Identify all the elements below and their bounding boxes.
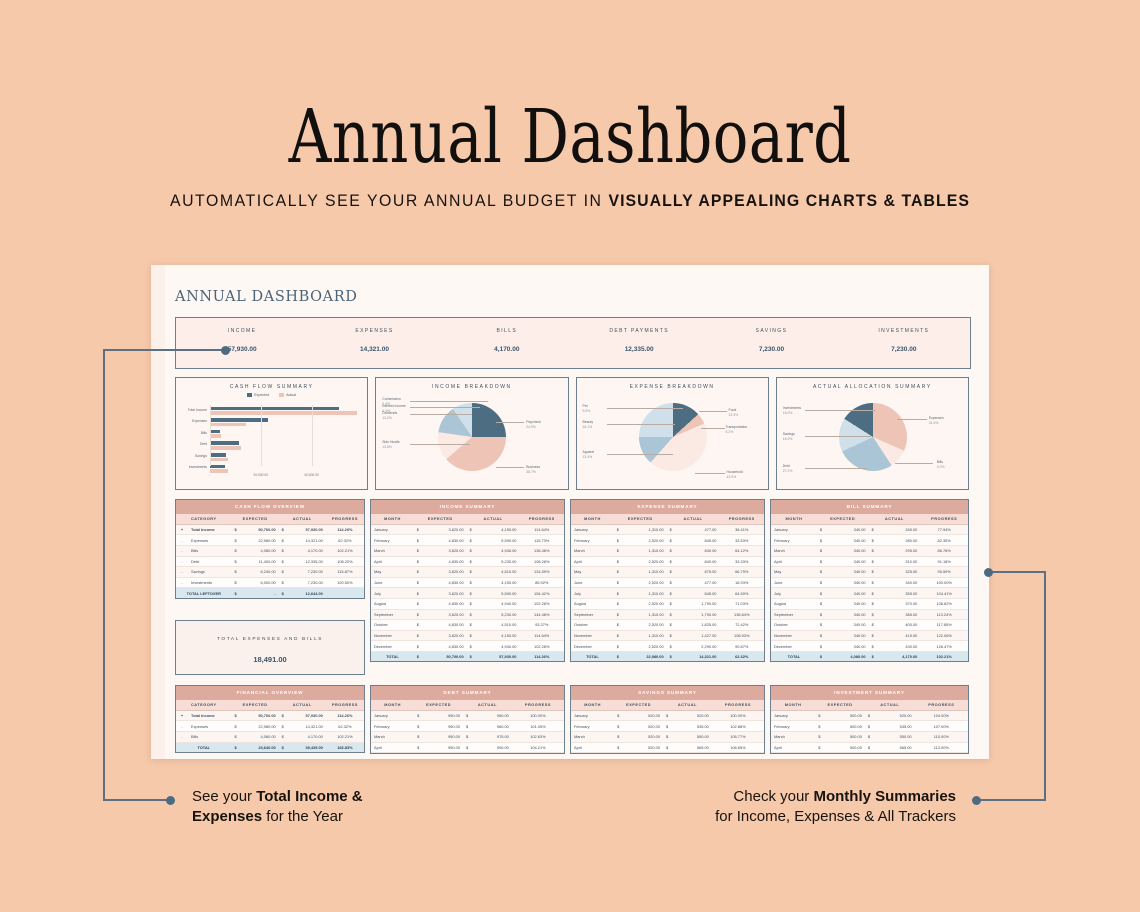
row-expected: 50,700.00 bbox=[245, 524, 279, 535]
bar-expected bbox=[210, 407, 339, 411]
table-row[interactable]: March$500.00$550.00110.00% bbox=[771, 731, 968, 742]
row-sign: - bbox=[176, 721, 188, 732]
callout-left-bold1: Total Income & bbox=[256, 788, 362, 805]
row-progress: 100.00% bbox=[920, 577, 968, 588]
row-actual: 565.00 bbox=[676, 742, 712, 753]
table-row[interactable]: +Total Income$50,700.00$57,930.00114.26% bbox=[176, 710, 364, 721]
pie-label-savings: Savings16.0% bbox=[783, 432, 795, 441]
pie-label-name: Side Hustle bbox=[382, 440, 399, 445]
row-currency: $ bbox=[663, 710, 676, 721]
column-header: PROGRESS bbox=[326, 514, 364, 525]
row-expected: 3,620.00 bbox=[427, 545, 467, 556]
pie-label-side-hustle: Side Hustle13.6% bbox=[382, 440, 399, 449]
total-expected: 23,640.00 bbox=[245, 742, 279, 752]
table-row[interactable]: October$4,830.00$4,510.0093.37% bbox=[371, 620, 564, 631]
column-header: EXPECTED bbox=[614, 700, 663, 711]
row-currency: $ bbox=[817, 535, 830, 546]
bar-category-label: Savings bbox=[180, 454, 207, 458]
table-row[interactable]: -Expenses$22,980.00$14,321.0062.32% bbox=[176, 535, 364, 546]
table-row[interactable]: February$500.00$535.00107.00% bbox=[771, 721, 968, 732]
table-row[interactable]: -Investments$6,000.00$7,230.00120.50% bbox=[176, 577, 364, 588]
total-label: TOTAL bbox=[771, 651, 817, 661]
table-row[interactable]: July$340.00$355.00104.41% bbox=[771, 588, 968, 599]
callout-left-text: See your Total Income & Expenses for the… bbox=[192, 787, 522, 827]
callout-left-bold2: Expenses bbox=[192, 808, 262, 825]
pie-leader-line bbox=[607, 408, 683, 409]
table-row[interactable]: November$3,620.00$4,150.00114.64% bbox=[371, 630, 564, 641]
column-header: PROGRESS bbox=[519, 514, 564, 525]
row-currency: $ bbox=[663, 742, 676, 753]
expense-summary-table[interactable]: EXPENSE SUMMARYMONTHEXPECTEDACTUALPROGRE… bbox=[570, 499, 765, 662]
table-row[interactable]: June$2,520.00$477.0018.93% bbox=[571, 577, 764, 588]
row-label: Bills bbox=[188, 545, 232, 556]
pie-label-percent: 16.0% bbox=[783, 411, 801, 416]
pie-label-bills: Bills9.2% bbox=[937, 460, 945, 469]
pie-label-percent: 13.2% bbox=[382, 416, 397, 421]
pie-label-beauty: Beauty16.1% bbox=[583, 420, 594, 429]
table-row[interactable]: January$1,310.00$477.0036.41% bbox=[571, 524, 764, 535]
bar-category-label: Bills bbox=[180, 431, 207, 435]
row-currency: $ bbox=[817, 641, 830, 652]
bar-row: Expenses bbox=[180, 417, 362, 429]
table-row[interactable]: +Total Income$50,700.00$57,930.00114.26% bbox=[176, 524, 364, 535]
row-currency: $ bbox=[467, 524, 480, 535]
total-progress: 166.83% bbox=[326, 742, 364, 752]
column-header: PROGRESS bbox=[915, 700, 968, 711]
x-gridline bbox=[261, 405, 262, 466]
table-header-row: CATEGORYEXPECTEDACTUALPROGRESS bbox=[176, 700, 364, 711]
total-actual: 57,930.00 bbox=[480, 651, 520, 661]
row-currency: $ bbox=[869, 524, 882, 535]
row-actual: 4,150.00 bbox=[480, 630, 520, 641]
pie-label-name: Apparel bbox=[583, 450, 595, 455]
row-label: January bbox=[371, 524, 414, 535]
row-expected: 950.00 bbox=[427, 710, 463, 721]
table-row[interactable]: September$1,310.00$1,790.00136.64% bbox=[571, 609, 764, 620]
row-progress: 105.77% bbox=[712, 731, 764, 742]
row-expected: 1,310.00 bbox=[627, 545, 667, 556]
row-currency: $ bbox=[279, 731, 292, 742]
kpi-label: BILLS bbox=[441, 328, 573, 334]
row-currency: $ bbox=[414, 721, 427, 732]
table-row[interactable]: -Expenses$22,980.00$14,321.0062.32% bbox=[176, 721, 364, 732]
table-header-row: MONTHEXPECTEDACTUALPROGRESS bbox=[371, 514, 564, 525]
table-title: CASH FLOW OVERVIEW bbox=[176, 500, 364, 514]
x-tick: - bbox=[209, 473, 210, 477]
table-row[interactable]: April$4,830.00$5,230.00108.28% bbox=[371, 556, 564, 567]
pie-label-percent: 5.4% bbox=[382, 402, 401, 407]
x-tick: 40,000.00 bbox=[304, 473, 319, 477]
row-expected: 1,310.00 bbox=[627, 630, 667, 641]
row-currency: $ bbox=[414, 609, 427, 620]
table-row[interactable]: April$950.00$990.00104.21% bbox=[371, 742, 564, 753]
row-currency: $ bbox=[614, 742, 627, 753]
row-progress: 126.47% bbox=[920, 641, 968, 652]
row-actual: 845.00 bbox=[680, 588, 720, 599]
pie-label-paycheck: Paycheck24.9% bbox=[526, 420, 541, 429]
bar-track bbox=[210, 440, 362, 452]
income-summary-table[interactable]: INCOME SUMMARYMONTHEXPECTEDACTUALPROGRES… bbox=[370, 499, 565, 662]
row-actual: 280.00 bbox=[882, 535, 921, 546]
pie-label-name: Paycheck bbox=[526, 420, 541, 425]
callout-right-plain1: Check your bbox=[733, 788, 813, 805]
table-row[interactable]: -Debt$11,400.00$12,335.00108.20% bbox=[176, 556, 364, 567]
table-row[interactable]: October$340.00$400.00117.65% bbox=[771, 620, 968, 631]
row-actual: 4,510.00 bbox=[480, 567, 520, 578]
x-gridline bbox=[312, 405, 313, 466]
callout-left-plain1: See your bbox=[192, 788, 256, 805]
table-row[interactable]: February$4,830.00$5,590.00115.73% bbox=[371, 535, 564, 546]
table-row[interactable]: May$1,310.00$875.0066.79% bbox=[571, 567, 764, 578]
pie-label-name: Business bbox=[526, 465, 540, 470]
table-row[interactable]: August$2,520.00$1,790.0071.03% bbox=[571, 598, 764, 609]
row-currency: $ bbox=[667, 535, 680, 546]
column-header: ACTUAL bbox=[279, 700, 326, 711]
kpi-label: SAVINGS bbox=[705, 328, 837, 334]
table-row[interactable]: February$340.00$280.0082.35% bbox=[771, 535, 968, 546]
debt-summary-table[interactable]: DEBT SUMMARYMONTHEXPECTEDACTUALPROGRESSJ… bbox=[370, 685, 565, 754]
row-currency: $ bbox=[279, 556, 292, 567]
row-currency: $ bbox=[667, 609, 680, 620]
row-actual: 875.00 bbox=[680, 567, 720, 578]
pie-label-name: Expenses bbox=[929, 416, 944, 421]
total-expected: 4,080.00 bbox=[830, 651, 869, 661]
row-progress: 108.93% bbox=[719, 630, 764, 641]
row-progress: 95.59% bbox=[920, 567, 968, 578]
table-row[interactable]: May$340.00$325.0095.59% bbox=[771, 567, 968, 578]
column-header: PROGRESS bbox=[920, 514, 968, 525]
row-progress: 113.24% bbox=[920, 609, 968, 620]
kpi-investments: INVESTMENTS7,230.00 bbox=[838, 318, 970, 368]
total-progress: 102.21% bbox=[920, 651, 968, 661]
row-actual: 1,825.00 bbox=[680, 620, 720, 631]
table-row[interactable]: November$1,310.00$1,427.00108.93% bbox=[571, 630, 764, 641]
row-expected: 4,080.00 bbox=[245, 545, 279, 556]
table-row[interactable]: August$4,830.00$4,940.00102.28% bbox=[371, 598, 564, 609]
table-row[interactable]: February$520.00$535.00102.88% bbox=[571, 721, 764, 732]
total-actual: 14,321.00 bbox=[680, 651, 720, 661]
callout-left-dot-top bbox=[221, 346, 230, 355]
row-expected: 950.00 bbox=[427, 721, 463, 732]
table-total-row: TOTAL LEFTOVER$-$12,644.00 bbox=[176, 588, 364, 598]
row-currency: $ bbox=[279, 524, 292, 535]
total-expenses-bills-label: TOTAL EXPENSES AND BILLS bbox=[176, 637, 364, 642]
row-currency: $ bbox=[614, 630, 627, 641]
bill-summary-table[interactable]: BILL SUMMARYMONTHEXPECTEDACTUALPROGRESSJ… bbox=[770, 499, 969, 662]
row-expected: 340.00 bbox=[830, 535, 869, 546]
row-expected: 1,310.00 bbox=[627, 609, 667, 620]
total-expected: - bbox=[245, 588, 279, 598]
row-currency: $ bbox=[467, 598, 480, 609]
table-row[interactable]: January$520.00$520.00100.00% bbox=[571, 710, 764, 721]
row-sign: - bbox=[176, 567, 188, 578]
bar-expected bbox=[210, 441, 239, 445]
column-header: ACTUAL bbox=[869, 514, 921, 525]
row-progress: 154.42% bbox=[519, 588, 564, 599]
row-currency: $ bbox=[667, 598, 680, 609]
pie-label-name: Beauty bbox=[583, 420, 594, 425]
legend-item-actual: Actual bbox=[279, 393, 296, 397]
row-sign: - bbox=[176, 535, 188, 546]
pie-label-name: Investments bbox=[783, 406, 801, 411]
kpi-expenses: EXPENSES14,321.00 bbox=[308, 318, 440, 368]
row-currency: $ bbox=[663, 721, 676, 732]
bar-category-label: Investments bbox=[180, 465, 207, 469]
row-actual: 4,940.00 bbox=[480, 598, 520, 609]
table-row[interactable]: September$3,620.00$5,230.00144.48% bbox=[371, 609, 564, 620]
y-axis-line bbox=[210, 405, 211, 466]
bar-row: Bills bbox=[180, 428, 362, 440]
row-actual: 7,230.00 bbox=[292, 577, 326, 588]
row-expected: 520.00 bbox=[627, 710, 663, 721]
row-label: January bbox=[371, 710, 414, 721]
pie-label-name: Household bbox=[727, 470, 743, 475]
bar-track bbox=[210, 405, 362, 417]
expense-breakdown-pie: Food13.3%Transportation5.2%Household43.0… bbox=[577, 392, 768, 487]
bar-expected bbox=[210, 418, 268, 422]
table-row[interactable]: December$4,830.00$4,940.00102.28% bbox=[371, 641, 564, 652]
row-expected: 340.00 bbox=[830, 598, 869, 609]
row-label: November bbox=[571, 630, 614, 641]
sheet-left-margin bbox=[151, 265, 165, 759]
pie-leader-line bbox=[410, 444, 470, 445]
row-currency: $ bbox=[414, 535, 427, 546]
investment-summary-table[interactable]: INVESTMENT SUMMARYMONTHEXPECTEDACTUALPRO… bbox=[770, 685, 969, 754]
row-currency: $ bbox=[817, 609, 830, 620]
table-row[interactable]: January$500.00$520.00104.00% bbox=[771, 710, 968, 721]
row-sign: - bbox=[176, 577, 188, 588]
row-label: March bbox=[771, 545, 817, 556]
row-expected: 340.00 bbox=[830, 630, 869, 641]
row-expected: 500.00 bbox=[828, 721, 865, 732]
bar-category-label: Total Income bbox=[180, 408, 207, 412]
callout-right-line-bottom bbox=[976, 799, 1046, 801]
row-actual: 1,790.00 bbox=[680, 609, 720, 620]
total-expected: 50,700.00 bbox=[427, 651, 467, 661]
table-row[interactable]: November$340.00$415.00122.06% bbox=[771, 630, 968, 641]
row-sign: - bbox=[176, 731, 188, 742]
financial-overview-table[interactable]: FINANCIAL OVERVIEWCATEGORYEXPECTEDACTUAL… bbox=[175, 685, 365, 753]
savings-summary-table[interactable]: SAVINGS SUMMARYMONTHEXPECTEDACTUALPROGRE… bbox=[570, 685, 765, 754]
row-expected: 340.00 bbox=[830, 641, 869, 652]
bar-track bbox=[210, 417, 362, 429]
callout-right-text: Check your Monthly Summaries for Income,… bbox=[620, 787, 956, 827]
row-progress: 108.65% bbox=[712, 742, 764, 753]
table-row[interactable]: March$520.00$550.00105.77% bbox=[571, 731, 764, 742]
row-actual: 355.00 bbox=[882, 588, 921, 599]
table-row[interactable]: July$3,620.00$5,590.00154.42% bbox=[371, 588, 564, 599]
legend-label: Expected bbox=[254, 393, 269, 397]
column-header: EXPECTED bbox=[414, 700, 463, 711]
row-expected: 2,520.00 bbox=[627, 641, 667, 652]
row-progress: 108.82% bbox=[920, 598, 968, 609]
table-header-row: MONTHEXPECTEDACTUALPROGRESS bbox=[571, 700, 764, 711]
row-currency: $ bbox=[467, 556, 480, 567]
dashboard-screenshot: ANNUAL DASHBOARD INCOME57,930.00EXPENSES… bbox=[151, 265, 989, 759]
row-currency: $ bbox=[614, 535, 627, 546]
row-expected: 340.00 bbox=[830, 567, 869, 578]
sheet-title: ANNUAL DASHBOARD bbox=[175, 289, 357, 305]
cash-flow-overview-table[interactable]: CASH FLOW OVERVIEWCATEGORYEXPECTEDACTUAL… bbox=[175, 499, 365, 599]
row-actual: 477.00 bbox=[680, 577, 720, 588]
row-label: September bbox=[771, 609, 817, 620]
actual-allocation-card: ACTUAL ALLOCATION SUMMARY Expenses31.6%B… bbox=[776, 377, 969, 490]
row-currency: $ bbox=[869, 641, 882, 652]
table-row[interactable]: April$500.00$565.00113.00% bbox=[771, 742, 968, 753]
row-actual: 535.00 bbox=[676, 721, 712, 732]
cash-flow-summary-title: CASH FLOW SUMMARY bbox=[176, 378, 367, 390]
table-row[interactable]: March$340.00$295.0086.76% bbox=[771, 545, 968, 556]
table-row[interactable]: -Bills$4,080.00$4,170.00102.21% bbox=[176, 545, 364, 556]
row-progress: 62.32% bbox=[326, 721, 364, 732]
row-currency: $ bbox=[614, 556, 627, 567]
row-currency: $ bbox=[865, 710, 878, 721]
callout-right-dot-top bbox=[984, 568, 993, 577]
row-expected: 2,520.00 bbox=[627, 535, 667, 546]
total-currency: $ bbox=[467, 651, 480, 661]
table-row[interactable]: December$340.00$430.00126.47% bbox=[771, 641, 968, 652]
table-row[interactable]: April$520.00$565.00108.65% bbox=[571, 742, 764, 753]
row-actual: 385.00 bbox=[882, 609, 921, 620]
row-progress: 102.21% bbox=[326, 545, 364, 556]
row-currency: $ bbox=[232, 545, 245, 556]
kpi-value: 12,335.00 bbox=[573, 346, 705, 353]
table-row[interactable]: June$4,830.00$4,150.0085.92% bbox=[371, 577, 564, 588]
row-progress: 136.64% bbox=[719, 609, 764, 620]
table-header-row: MONTHEXPECTEDACTUALPROGRESS bbox=[771, 700, 968, 711]
row-progress: 136.46% bbox=[519, 545, 564, 556]
row-progress: 64.12% bbox=[719, 545, 764, 556]
table-row[interactable]: May$3,620.00$4,510.00124.59% bbox=[371, 567, 564, 578]
row-currency: $ bbox=[467, 535, 480, 546]
column-header: ACTUAL bbox=[667, 514, 720, 525]
row-expected: 520.00 bbox=[627, 731, 663, 742]
row-expected: 6,000.00 bbox=[245, 577, 279, 588]
pie-label-transportation: Transportation5.2% bbox=[726, 425, 748, 434]
row-currency: $ bbox=[667, 620, 680, 631]
row-expected: 340.00 bbox=[830, 577, 869, 588]
row-currency: $ bbox=[414, 598, 427, 609]
row-label: October bbox=[771, 620, 817, 631]
table-row[interactable]: October$2,520.00$1,825.0072.42% bbox=[571, 620, 764, 631]
pie-leader-line bbox=[496, 422, 524, 423]
table-row[interactable]: April$340.00$310.0091.18% bbox=[771, 556, 968, 567]
row-expected: 340.00 bbox=[830, 545, 869, 556]
table-row[interactable]: March$3,620.00$4,940.00136.46% bbox=[371, 545, 564, 556]
row-currency: $ bbox=[667, 556, 680, 567]
pie-label-commission: Commission5.4% bbox=[382, 397, 401, 406]
row-progress: 104.41% bbox=[920, 588, 968, 599]
column-header: EXPECTED bbox=[414, 514, 467, 525]
pie-label-food: Food13.3% bbox=[729, 408, 739, 417]
table-total-row: TOTAL$23,640.00$39,439.00166.83% bbox=[176, 742, 364, 752]
table-row[interactable]: July$1,310.00$845.0064.50% bbox=[571, 588, 764, 599]
row-currency: $ bbox=[279, 577, 292, 588]
pie-label-percent: 9.0% bbox=[583, 409, 591, 414]
row-currency: $ bbox=[817, 620, 830, 631]
row-expected: 4,830.00 bbox=[427, 641, 467, 652]
table-row[interactable]: April$2,520.00$840.0033.33% bbox=[571, 556, 764, 567]
row-currency: $ bbox=[467, 588, 480, 599]
total-label: TOTAL bbox=[371, 651, 414, 661]
total-currency: $ bbox=[232, 742, 245, 752]
row-actual: 5,590.00 bbox=[480, 535, 520, 546]
row-currency: $ bbox=[232, 721, 245, 732]
row-label: June bbox=[771, 577, 817, 588]
row-expected: 4,830.00 bbox=[427, 577, 467, 588]
table-row[interactable]: March$1,310.00$840.0064.12% bbox=[571, 545, 764, 556]
row-progress: 104.00% bbox=[915, 710, 968, 721]
row-actual: 975.00 bbox=[476, 731, 512, 742]
row-currency: $ bbox=[817, 545, 830, 556]
row-progress: 66.79% bbox=[719, 567, 764, 578]
table-title: EXPENSE SUMMARY bbox=[571, 500, 764, 514]
row-actual: 520.00 bbox=[676, 710, 712, 721]
table-row[interactable]: January$3,620.00$4,150.00114.64% bbox=[371, 524, 564, 535]
column-header: MONTH bbox=[371, 514, 414, 525]
table-row[interactable]: March$950.00$975.00102.63% bbox=[371, 731, 564, 742]
bar-actual bbox=[210, 423, 246, 427]
pie-leader-line bbox=[410, 414, 472, 415]
bar-expected bbox=[210, 430, 220, 434]
row-actual: 7,230.00 bbox=[292, 567, 326, 578]
total-currency: $ bbox=[279, 588, 292, 598]
subtitle-bold: VISUALLY APPEALING CHARTS & TABLES bbox=[608, 192, 970, 210]
row-progress: 113.00% bbox=[915, 742, 968, 753]
row-label: July bbox=[771, 588, 817, 599]
table-row[interactable]: June$340.00$340.00100.00% bbox=[771, 577, 968, 588]
row-label: May bbox=[771, 567, 817, 578]
row-progress: 85.92% bbox=[519, 577, 564, 588]
table-row[interactable]: January$340.00$265.0077.94% bbox=[771, 524, 968, 535]
legend-item-expected: Expected bbox=[247, 393, 269, 397]
row-label: June bbox=[571, 577, 614, 588]
pie-leader-line bbox=[895, 463, 933, 464]
row-actual: 57,930.00 bbox=[292, 710, 326, 721]
row-label: April bbox=[771, 556, 817, 567]
expense-breakdown-title: EXPENSE BREAKDOWN bbox=[577, 378, 768, 390]
row-currency: $ bbox=[467, 641, 480, 652]
row-expected: 22,980.00 bbox=[245, 721, 279, 732]
row-actual: 550.00 bbox=[676, 731, 712, 742]
column-header: CATEGORY bbox=[176, 700, 232, 711]
row-progress: 114.64% bbox=[519, 524, 564, 535]
kpi-value: 7,230.00 bbox=[838, 346, 970, 353]
row-label: Total Income bbox=[188, 524, 232, 535]
table-row[interactable]: -Bills$4,080.00$4,170.00102.21% bbox=[176, 731, 364, 742]
row-actual: 960.00 bbox=[476, 721, 512, 732]
row-actual: 565.00 bbox=[878, 742, 915, 753]
table-row[interactable]: January$950.00$950.00100.00% bbox=[371, 710, 564, 721]
table-row[interactable]: December$2,520.00$2,290.0090.87% bbox=[571, 641, 764, 652]
table-row[interactable]: February$2,520.00$845.0033.53% bbox=[571, 535, 764, 546]
table-row[interactable]: -Savings$6,240.00$7,230.00115.87% bbox=[176, 567, 364, 578]
bar-x-axis: -20,000.0040,000.00 bbox=[210, 471, 362, 472]
pie-label-percent: 43.0% bbox=[727, 475, 743, 480]
row-currency: $ bbox=[865, 742, 878, 753]
table-row[interactable]: September$340.00$385.00113.24% bbox=[771, 609, 968, 620]
row-currency: $ bbox=[614, 545, 627, 556]
total-currency: $ bbox=[817, 651, 830, 661]
pie-label-name: Transportation bbox=[726, 425, 748, 430]
row-label: April bbox=[771, 742, 815, 753]
row-currency: $ bbox=[614, 641, 627, 652]
pie-label-investments: Investments16.0% bbox=[783, 406, 801, 415]
table-row[interactable]: February$950.00$960.00101.05% bbox=[371, 721, 564, 732]
pie-label-percent: 16.0% bbox=[783, 437, 795, 442]
table-row[interactable]: August$340.00$370.00108.82% bbox=[771, 598, 968, 609]
row-label: February bbox=[771, 535, 817, 546]
